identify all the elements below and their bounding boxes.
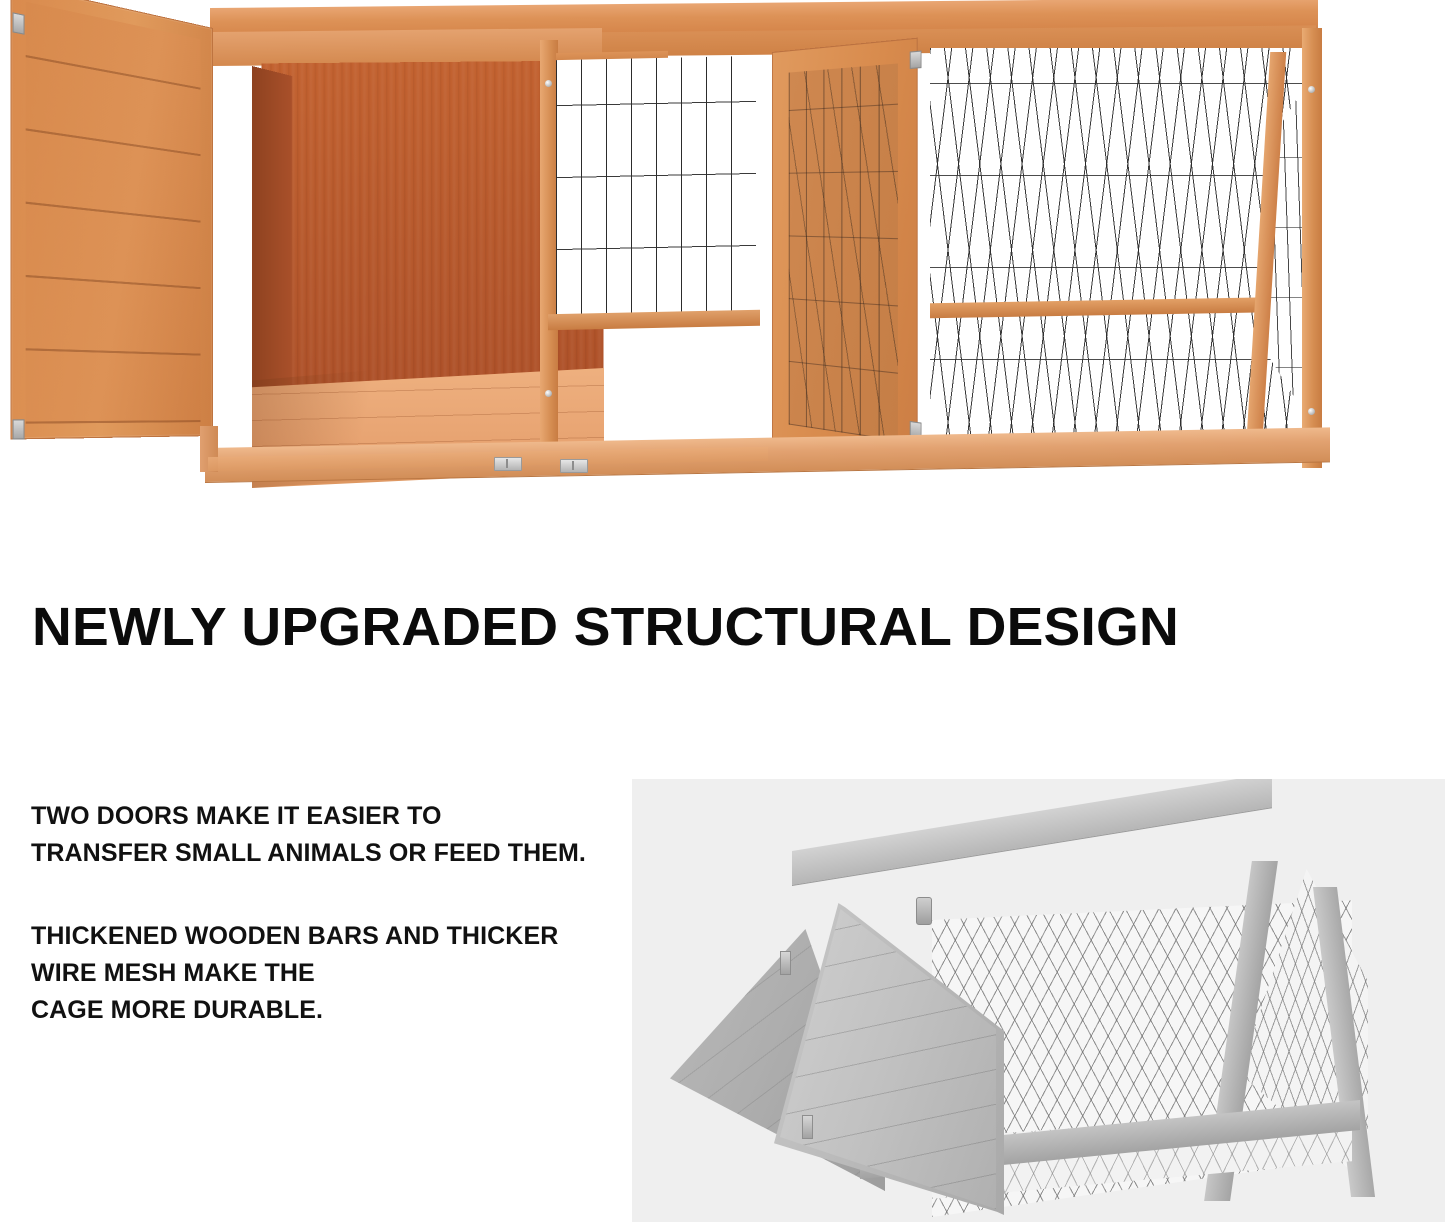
feature-line: THICKENED WOODEN BARS AND THICKER [31, 918, 621, 955]
a-frame-hutch-illustration [632, 779, 1445, 1222]
a-frame-door-latch [916, 897, 932, 925]
base-hinge-right [560, 459, 588, 473]
wire-mesh-grid [556, 56, 756, 322]
a-frame-ridge-beam [792, 779, 1272, 886]
second-door-mesh-panel [789, 63, 898, 441]
mesh-panel-bottom-rail [548, 310, 760, 330]
second-mesh-door-open [772, 38, 918, 469]
product-marketing-page: NEWLY UPGRADED STRUCTURAL DESIGN TWO DOO… [0, 0, 1445, 1222]
feature-item-thickened-bars: THICKENED WOODEN BARS AND THICKER WIRE M… [31, 918, 621, 1029]
screw-head [545, 80, 552, 87]
feature-line: CAGE MORE DURABLE. [31, 992, 621, 1029]
feature-item-two-doors: TWO DOORS MAKE IT EASIER TO TRANSFER SMA… [31, 798, 621, 872]
hero-product-image [0, 0, 1445, 500]
left-door-slat-panel [26, 2, 201, 424]
wire-mesh-panel-left [556, 56, 756, 322]
house-inner-side-wall [252, 66, 292, 402]
secondary-product-image [632, 779, 1445, 1222]
page-title: NEWLY UPGRADED STRUCTURAL DESIGN [32, 600, 1179, 654]
screw-head [545, 390, 552, 397]
screw-head [1308, 86, 1315, 93]
left-wooden-door-open [10, 0, 213, 440]
second-door-hinge-top [910, 50, 922, 69]
base-hinge-left [494, 457, 522, 471]
feature-line: WIRE MESH MAKE THE [31, 955, 621, 992]
feature-list: TWO DOORS MAKE IT EASIER TO TRANSFER SMA… [31, 798, 621, 1029]
a-frame-door-hinge-top [780, 951, 791, 975]
screw-head [1308, 408, 1315, 415]
left-door-hinge-bottom [13, 419, 25, 439]
feature-line: TWO DOORS MAKE IT EASIER TO [31, 798, 621, 835]
right-corner-post [1302, 28, 1322, 468]
feature-line: TRANSFER SMALL ANIMALS OR FEED THEM. [31, 835, 621, 872]
left-door-hinge-top [13, 12, 25, 35]
a-frame-door-hinge-bottom [802, 1115, 813, 1139]
